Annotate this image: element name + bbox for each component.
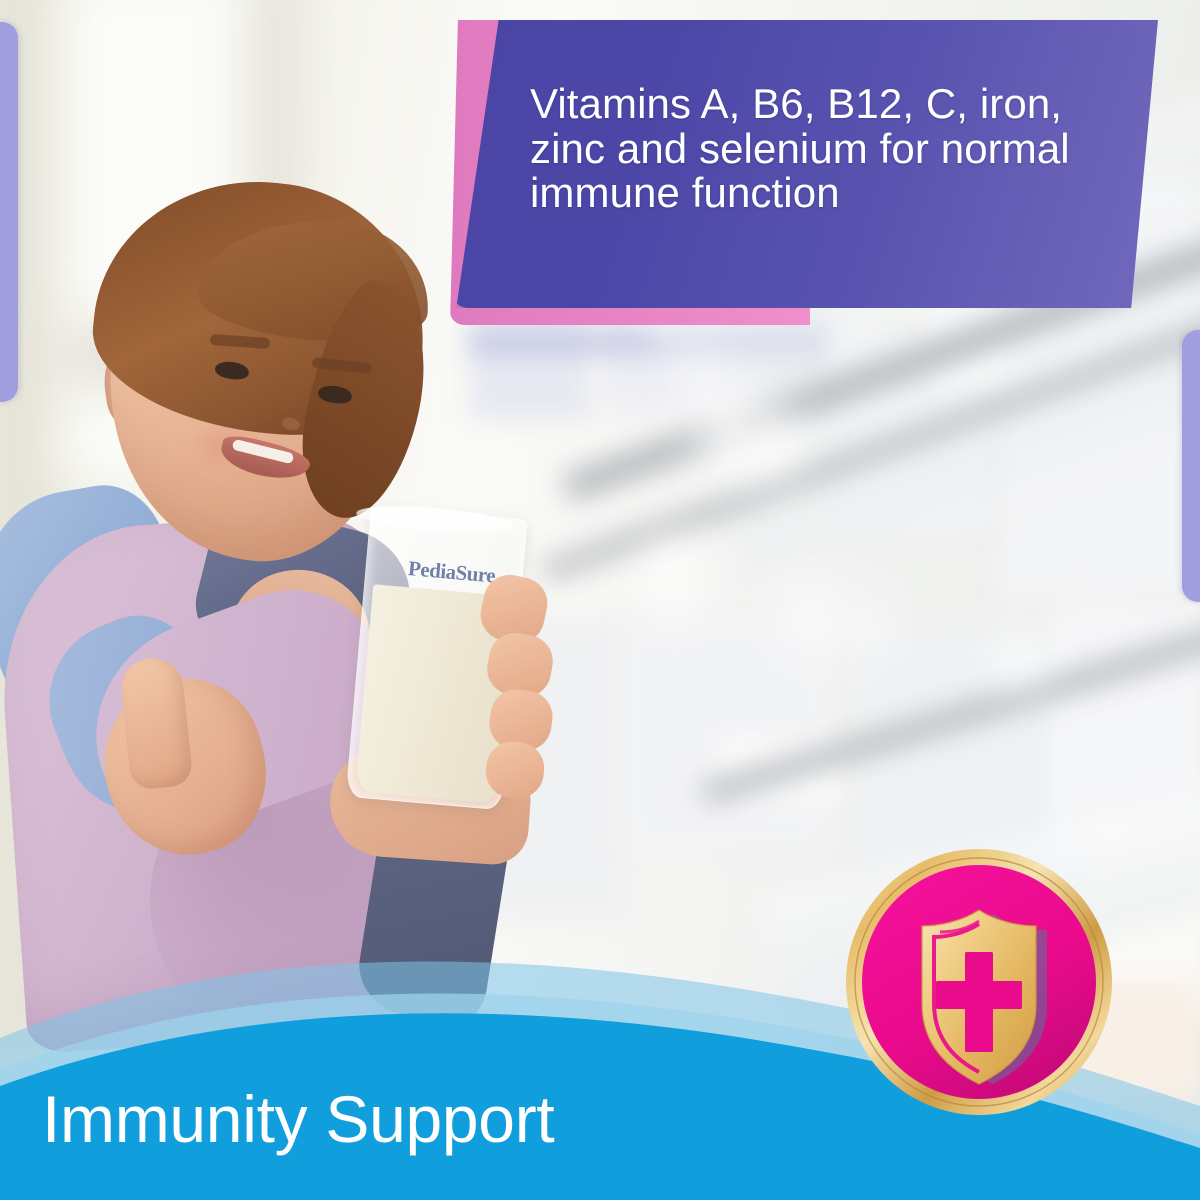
immunity-support-ad: PediaSure Vitamins A, B6, B12, C, iron, … [0, 0, 1200, 1200]
headline-text: Vitamins A, B6, B12, C, iron, zinc and s… [530, 82, 1138, 216]
immunity-shield-badge [843, 846, 1115, 1118]
right-lavender-tab [1182, 330, 1200, 602]
headline-banner: Vitamins A, B6, B12, C, iron, zinc and s… [452, 20, 1158, 308]
footer-title: Immunity Support [42, 1086, 554, 1152]
